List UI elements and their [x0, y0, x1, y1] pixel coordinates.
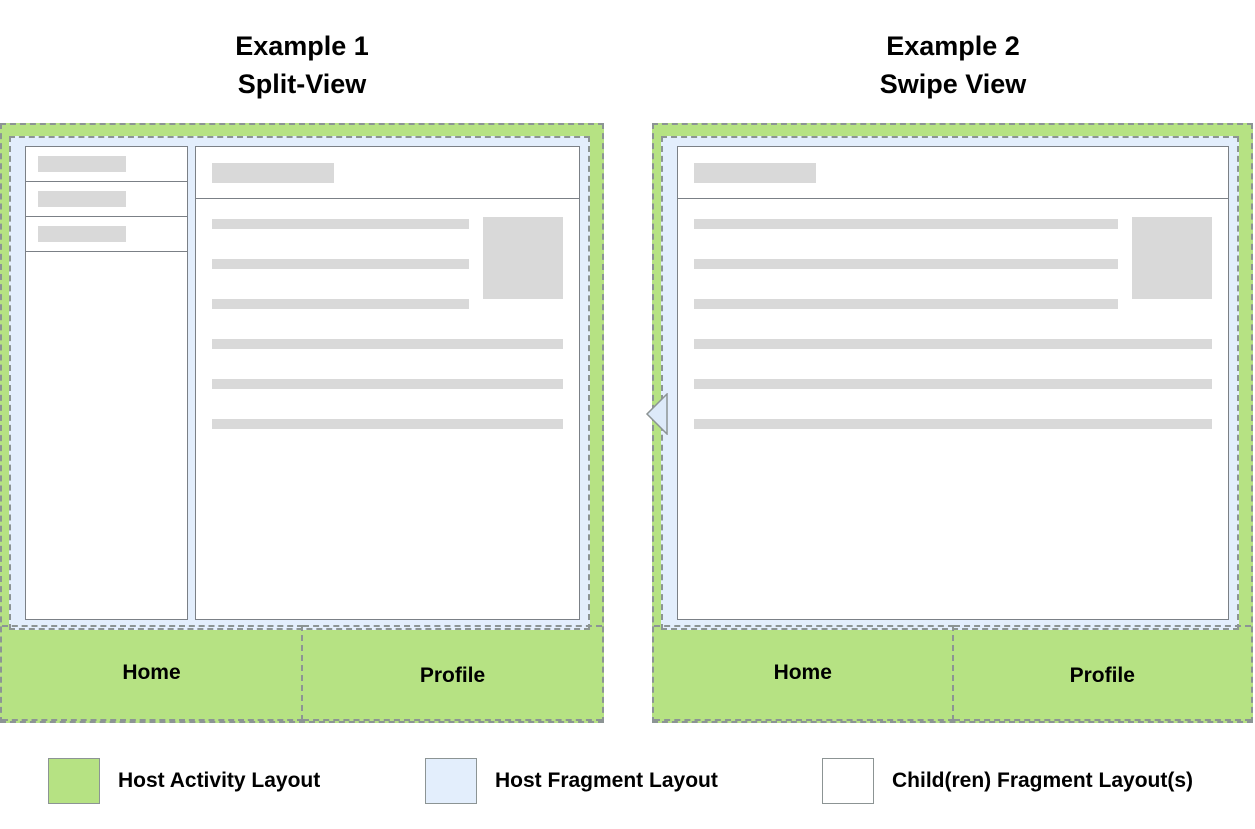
- example-2-title: Example 2 Swipe View: [803, 27, 1103, 104]
- nav-item-label: Home: [774, 661, 832, 685]
- legend-label: Host Activity Layout: [118, 769, 320, 793]
- example-2-page-child-fragment[interactable]: [677, 146, 1229, 620]
- text-line-placeholder: [694, 259, 1118, 269]
- list-item[interactable]: [26, 147, 187, 182]
- page-panel-header: [678, 147, 1228, 199]
- detail-top-section: [212, 217, 563, 309]
- text-line-placeholder: [694, 299, 1118, 309]
- legend-swatch-host-activity-layout: [48, 758, 100, 804]
- page-bottom-text-lines: [694, 309, 1212, 429]
- list-item-placeholder-bar: [38, 226, 126, 242]
- page-panel-body: [678, 199, 1228, 429]
- example-2-nav-item-home[interactable]: Home: [654, 625, 954, 721]
- text-line-placeholder: [694, 419, 1212, 429]
- example-2-host-fragment-layout: [661, 136, 1239, 630]
- text-line-placeholder: [212, 379, 563, 389]
- text-line-placeholder: [694, 379, 1212, 389]
- detail-bottom-text-lines: [212, 309, 563, 429]
- nav-item-label: Profile: [1070, 664, 1135, 688]
- nav-item-label: Profile: [420, 664, 485, 688]
- text-line-placeholder: [694, 339, 1212, 349]
- detail-panel-header: [196, 147, 579, 199]
- text-line-placeholder: [212, 259, 469, 269]
- legend-entry-host-fragment-layout: Host Fragment Layout: [425, 758, 718, 804]
- page-title-placeholder-bar: [694, 163, 816, 183]
- text-line-placeholder: [694, 219, 1118, 229]
- image-placeholder-block: [1132, 217, 1212, 299]
- legend-swatch-host-fragment-layout: [425, 758, 477, 804]
- page-top-section: [694, 217, 1212, 309]
- example-1-nav-item-profile[interactable]: Profile: [303, 625, 602, 721]
- nav-item-label: Home: [122, 661, 180, 685]
- detail-title-placeholder-bar: [212, 163, 334, 183]
- legend-label: Child(ren) Fragment Layout(s): [892, 769, 1193, 793]
- example-2-bottom-navigation: Home Profile: [654, 625, 1251, 721]
- example-1-detail-child-fragment[interactable]: [195, 146, 580, 620]
- detail-top-text-lines: [212, 217, 469, 309]
- text-line-placeholder: [212, 339, 563, 349]
- legend-entry-child-fragment-layout: Child(ren) Fragment Layout(s): [822, 758, 1193, 804]
- text-line-placeholder: [212, 219, 469, 229]
- legend-swatch-child-fragment-layout: [822, 758, 874, 804]
- legend-label: Host Fragment Layout: [495, 769, 718, 793]
- legend-entry-host-activity-layout: Host Activity Layout: [48, 758, 320, 804]
- example-1-list-child-fragment[interactable]: [25, 146, 188, 620]
- example-1-host-fragment-layout: [9, 136, 590, 630]
- example-1-nav-item-home[interactable]: Home: [2, 625, 303, 721]
- example-1-title: Example 1 Split-View: [152, 27, 452, 104]
- example-1-host-activity-layout: Home Profile: [0, 123, 604, 723]
- example-1-bottom-navigation: Home Profile: [2, 625, 602, 721]
- list-item[interactable]: [26, 182, 187, 217]
- list-item-placeholder-bar: [38, 191, 126, 207]
- text-line-placeholder: [212, 299, 469, 309]
- detail-panel-body: [196, 199, 579, 429]
- legend: Host Activity Layout Host Fragment Layou…: [0, 752, 1255, 808]
- example-2-nav-item-profile[interactable]: Profile: [954, 625, 1252, 721]
- image-placeholder-block: [483, 217, 563, 299]
- example-2-host-activity-layout: Home Profile: [652, 123, 1253, 723]
- list-item-placeholder-bar: [38, 156, 126, 172]
- text-line-placeholder: [212, 419, 563, 429]
- list-item[interactable]: [26, 217, 187, 252]
- page-top-text-lines: [694, 217, 1118, 309]
